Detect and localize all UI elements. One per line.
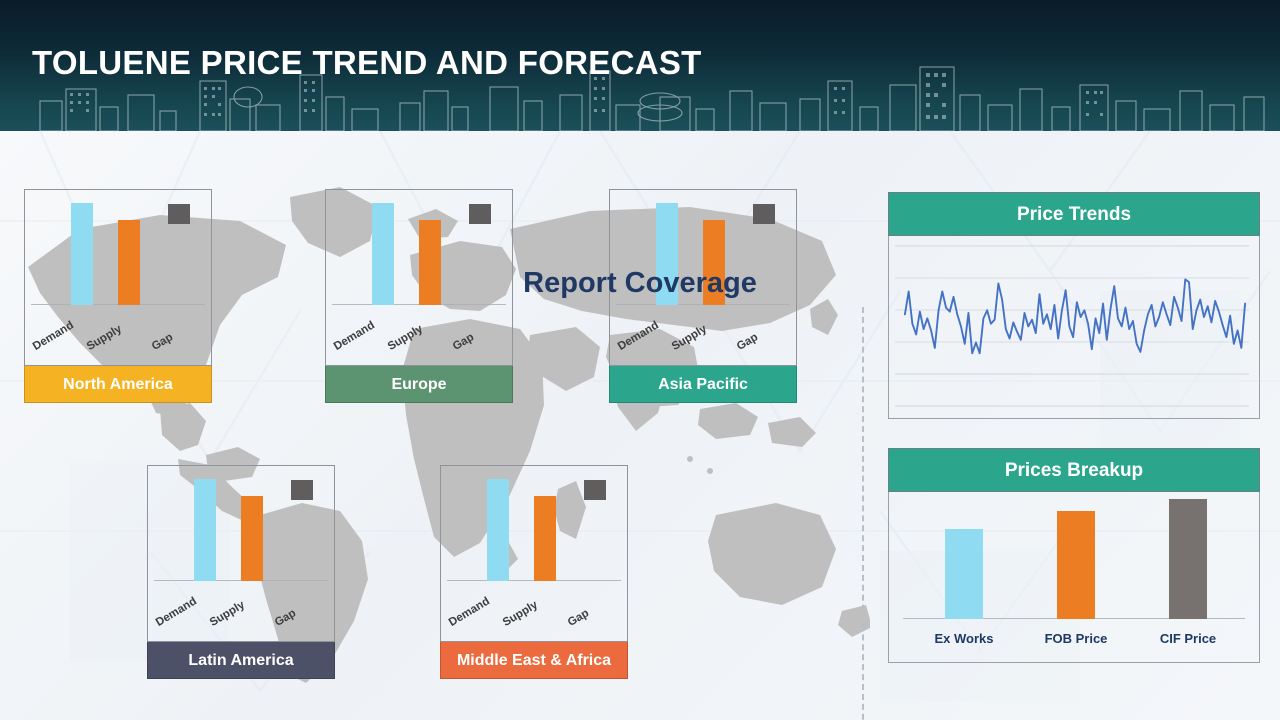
region-chart-middle-east-africa: Demand Supply Gap — [440, 465, 628, 642]
bar-cif-price — [1169, 499, 1207, 619]
category-label-gap: Gap — [273, 607, 298, 629]
category-label-supply: Supply — [670, 323, 709, 353]
page-title: TOLUENE PRICE TREND AND FORECAST — [32, 44, 702, 82]
region-card-latin-america[interactable]: Demand Supply Gap Latin America — [147, 465, 335, 679]
category-label-gap: Gap — [451, 331, 476, 353]
bar-gap — [168, 204, 190, 224]
panel-body-prices-breakup: Ex Works FOB Price CIF Price — [888, 492, 1260, 663]
category-label-demand: Demand — [154, 595, 199, 629]
page-header: TOLUENE PRICE TREND AND FORECAST — [0, 0, 1280, 131]
bar-gap — [753, 204, 775, 224]
bar-gap — [469, 204, 491, 224]
region-label-middle-east-africa: Middle East & Africa — [440, 642, 628, 679]
bar-demand — [194, 479, 216, 581]
bar-ex-works — [945, 529, 983, 619]
breakup-label-fob-price: FOB Price — [1041, 631, 1111, 646]
panel-title-prices-breakup: Prices Breakup — [888, 448, 1260, 492]
price-trend-line-chart — [889, 236, 1259, 418]
panel-price-trends[interactable]: Price Trends — [888, 192, 1260, 419]
region-chart-latin-america: Demand Supply Gap — [147, 465, 335, 642]
bar-supply — [241, 496, 263, 581]
category-label-supply: Supply — [85, 323, 124, 353]
region-label-asia-pacific: Asia Pacific — [609, 366, 797, 403]
breakup-label-cif-price: CIF Price — [1153, 631, 1223, 646]
region-label-latin-america: Latin America — [147, 642, 335, 679]
category-label-demand: Demand — [447, 595, 492, 629]
bar-demand — [487, 479, 509, 581]
panel-title-price-trends: Price Trends — [888, 192, 1260, 236]
vertical-divider — [862, 307, 864, 720]
bar-supply — [534, 496, 556, 581]
category-label-supply: Supply — [208, 599, 247, 629]
category-label-demand: Demand — [31, 319, 76, 353]
bar-gap — [291, 480, 313, 500]
infographic-page: TOLUENE PRICE TREND AND FORECAST — [0, 0, 1280, 720]
body-background: Report Coverage Demand Supply Gap North … — [0, 131, 1280, 720]
category-label-gap: Gap — [150, 331, 175, 353]
category-label-gap: Gap — [566, 607, 591, 629]
category-label-demand: Demand — [332, 319, 377, 353]
region-label-north-america: North America — [24, 366, 212, 403]
category-label-supply: Supply — [386, 323, 425, 353]
region-label-europe: Europe — [325, 366, 513, 403]
breakup-label-ex-works: Ex Works — [929, 631, 999, 646]
panel-prices-breakup[interactable]: Prices Breakup Ex Works FOB Price CIF Pr… — [888, 448, 1260, 663]
category-label-supply: Supply — [501, 599, 540, 629]
category-label-gap: Gap — [735, 331, 760, 353]
section-title: Report Coverage — [0, 267, 1280, 300]
category-label-demand: Demand — [616, 319, 661, 353]
bar-fob-price — [1057, 511, 1095, 619]
bar-gap — [584, 480, 606, 500]
region-card-middle-east-africa[interactable]: Demand Supply Gap Middle East & Africa — [440, 465, 628, 679]
panel-body-price-trends — [888, 236, 1260, 419]
